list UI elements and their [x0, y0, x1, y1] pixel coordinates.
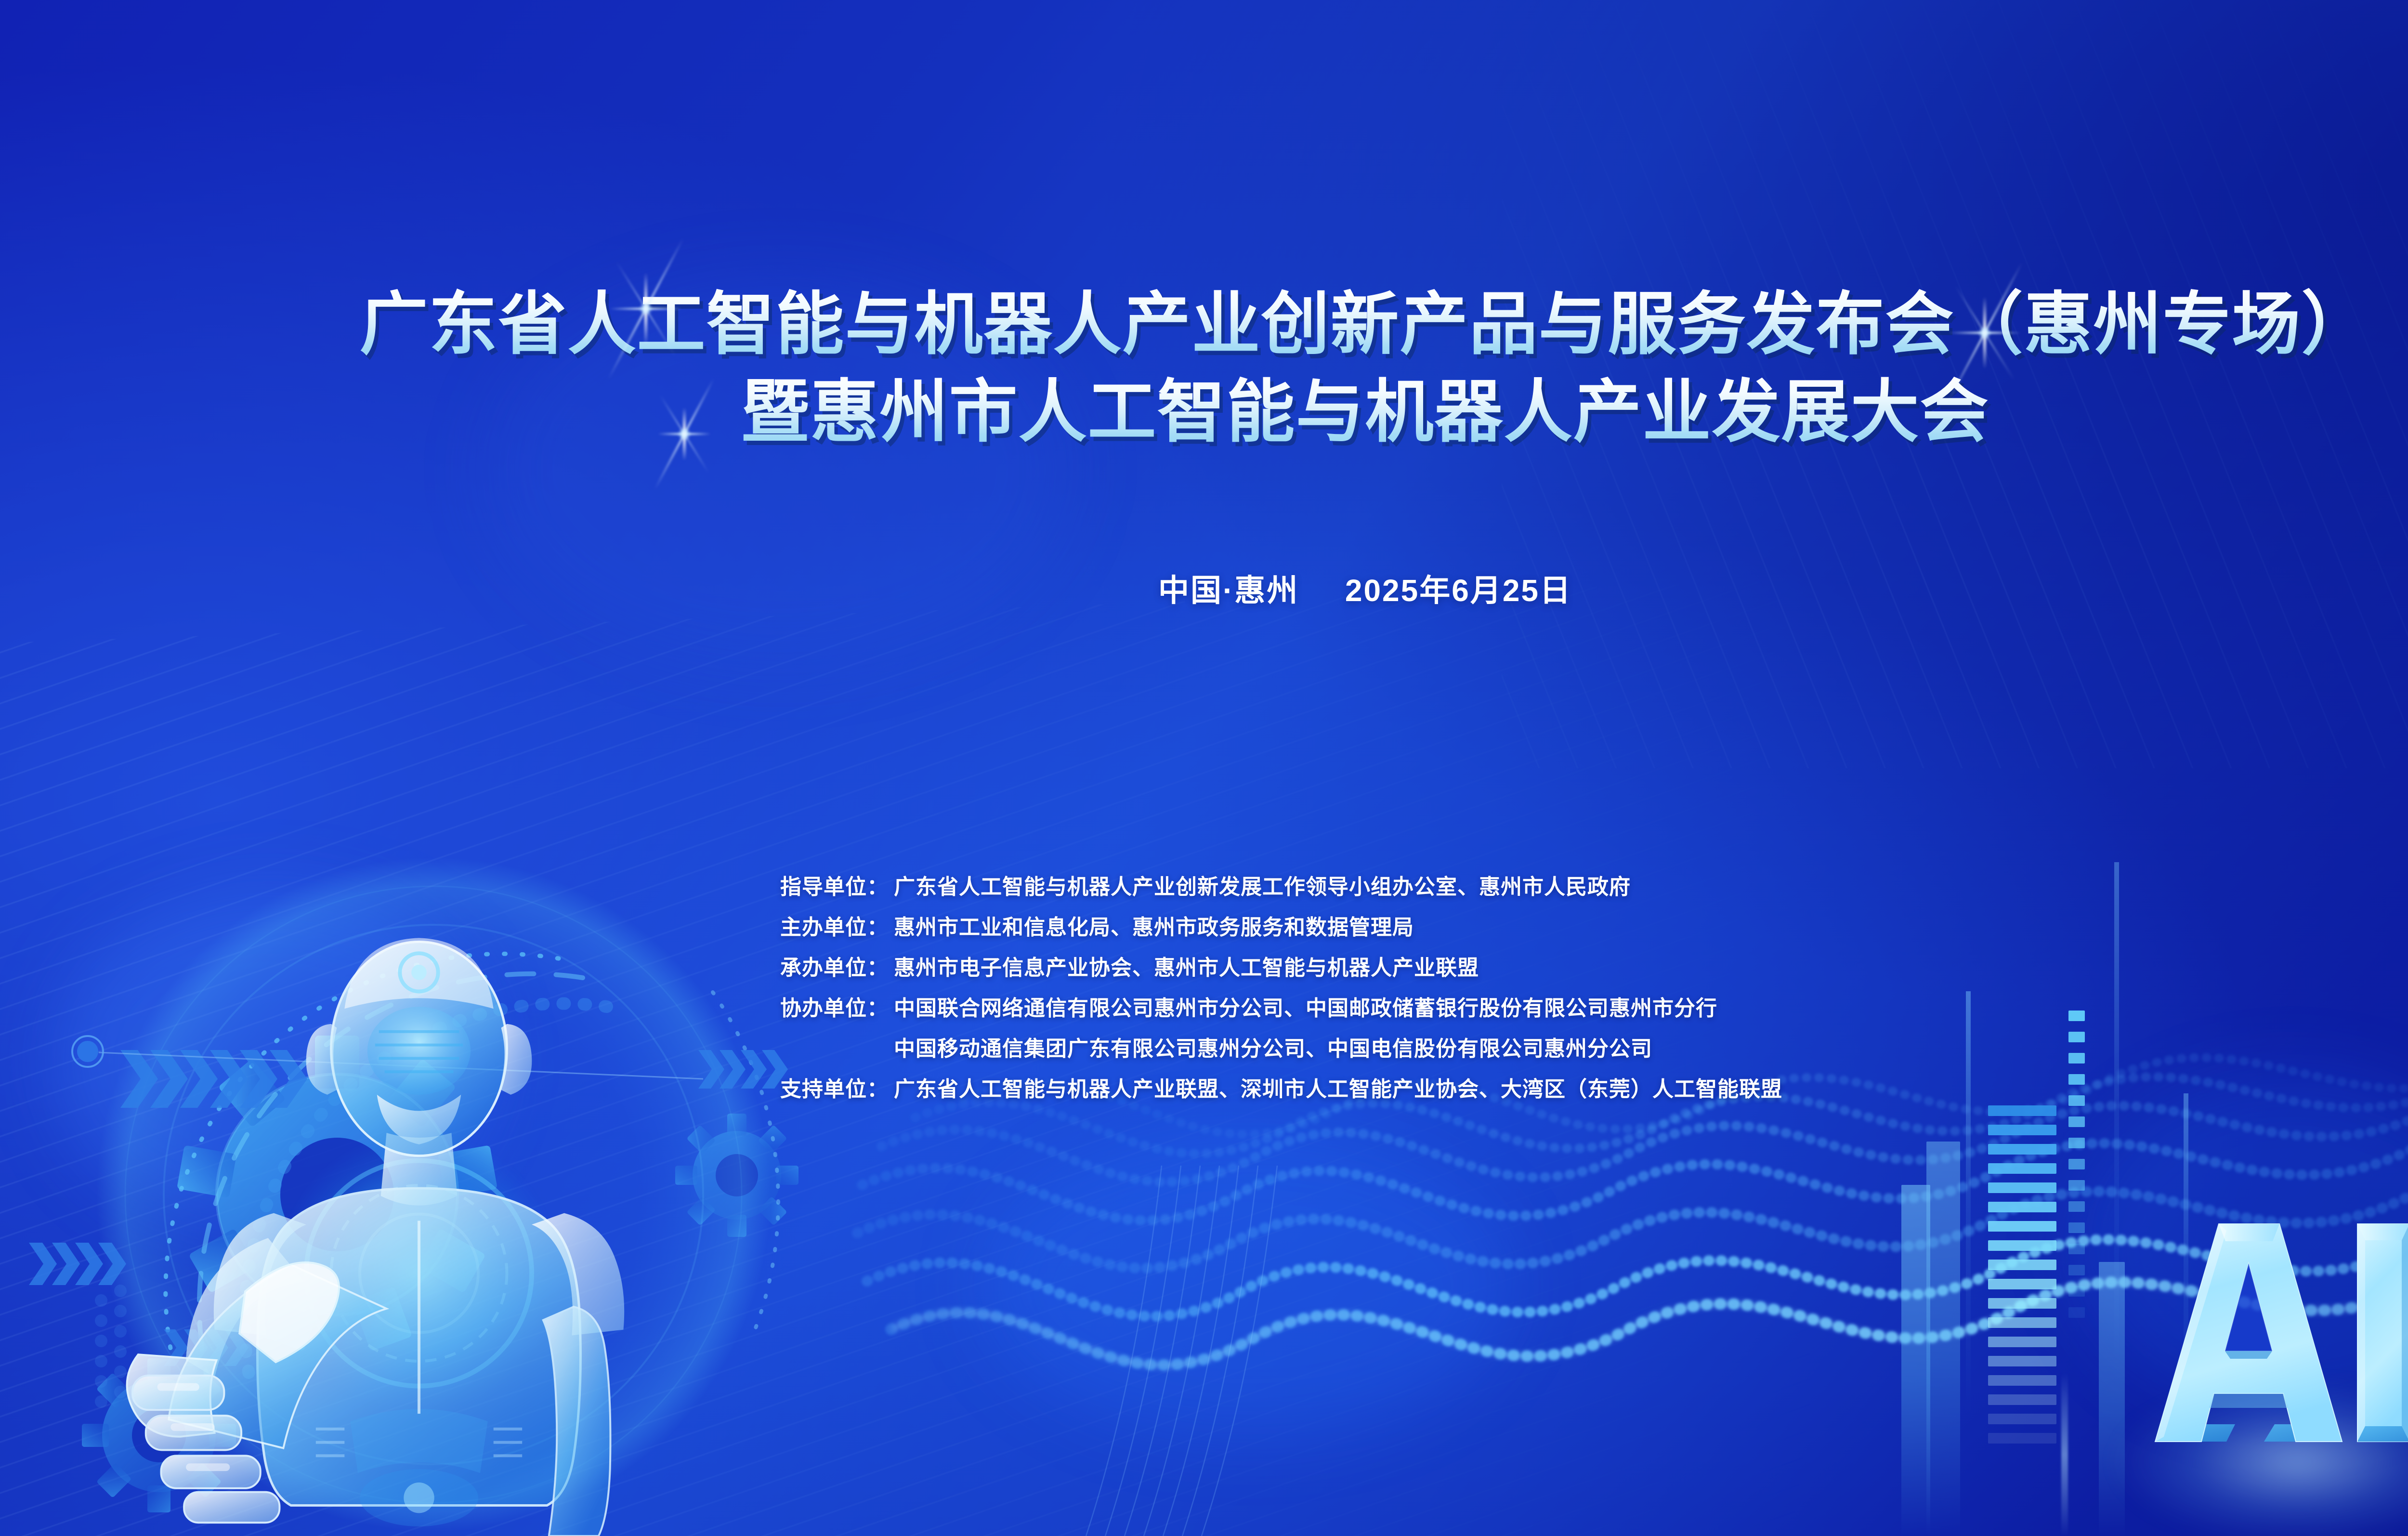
organizer-row: 协办单位：中国联合网络通信有限公司惠州市分公司、中国邮政储蓄银行股份有限公司惠州…	[780, 991, 1782, 1022]
organizer-label: 指导单位：	[780, 869, 894, 900]
organizer-row: 支持单位：广东省人工智能与机器人产业联盟、深圳市人工智能产业协会、大湾区（东莞）…	[780, 1072, 1782, 1103]
organizer-label: 协办单位：	[780, 991, 894, 1022]
organizer-value: 中国移动通信集团广东有限公司惠州分公司、中国电信股份有限公司惠州分公司	[894, 1031, 1652, 1062]
ai-beam-2	[2061, 1373, 2068, 1536]
organizer-row: 主办单位：惠州市工业和信息化局、惠州市政务服务和数据管理局	[780, 910, 1782, 941]
eqbar-2	[1926, 1142, 1960, 1536]
led-column-2	[2068, 1011, 2085, 1328]
organizer-value: 惠州市工业和信息化局、惠州市政务服务和数据管理局	[894, 910, 1414, 941]
organizer-label: 主办单位：	[780, 910, 894, 941]
robot-face-visor	[367, 1007, 471, 1094]
title-line-1: 广东省人工智能与机器人产业创新产品与服务发布会（惠州专场）	[0, 284, 2408, 365]
vline-2	[2114, 862, 2119, 1368]
conference-poster: 广东省人工智能与机器人产业创新产品与服务发布会（惠州专场） 暨惠州市人工智能与机…	[0, 0, 2408, 1536]
organizer-value: 广东省人工智能与机器人产业联盟、深圳市人工智能产业协会、大湾区（东莞）人工智能联…	[894, 1072, 1782, 1103]
organizer-row: 承办单位：惠州市电子信息产业协会、惠州市人工智能与机器人产业联盟	[780, 950, 1782, 981]
organizer-list: 指导单位：广东省人工智能与机器人产业创新发展工作领导小组办公室、惠州市人民政府主…	[780, 869, 1782, 1112]
headline-block: 广东省人工智能与机器人产业创新产品与服务发布会（惠州专场） 暨惠州市人工智能与机…	[0, 284, 2408, 452]
ai-logo	[2146, 1207, 2408, 1476]
vline-1	[1966, 991, 1971, 1415]
organizer-label: 承办单位：	[780, 950, 894, 981]
organizer-label: 支持单位：	[780, 1072, 894, 1103]
title-line-2: 暨惠州市人工智能与机器人产业发展大会	[0, 372, 2408, 453]
ai-letter-a	[2155, 1224, 2342, 1442]
organizer-row: 协办单位：中国移动通信集团广东有限公司惠州分公司、中国电信股份有限公司惠州分公司	[780, 1031, 1782, 1062]
subtitle-date: 2025年6月25日	[1345, 573, 1572, 608]
ai-letter-i	[2357, 1224, 2408, 1442]
organizer-value: 惠州市电子信息产业协会、惠州市人工智能与机器人产业联盟	[894, 950, 1479, 981]
led-column-1	[1988, 1105, 2056, 1452]
robot-illustration	[101, 906, 737, 1536]
organizer-value: 广东省人工智能与机器人产业创新发展工作领导小组办公室、惠州市人民政府	[894, 869, 1631, 900]
subtitle-block: 中国·惠州 2025年6月25日	[0, 566, 2408, 610]
subtitle-location: 中国·惠州	[1158, 573, 1299, 608]
organizer-row: 指导单位：广东省人工智能与机器人产业创新发展工作领导小组办公室、惠州市人民政府	[780, 869, 1782, 900]
organizer-value: 中国联合网络通信有限公司惠州市分公司、中国邮政储蓄银行股份有限公司惠州市分行	[894, 991, 1717, 1022]
eqbar-1	[1901, 1185, 1930, 1536]
